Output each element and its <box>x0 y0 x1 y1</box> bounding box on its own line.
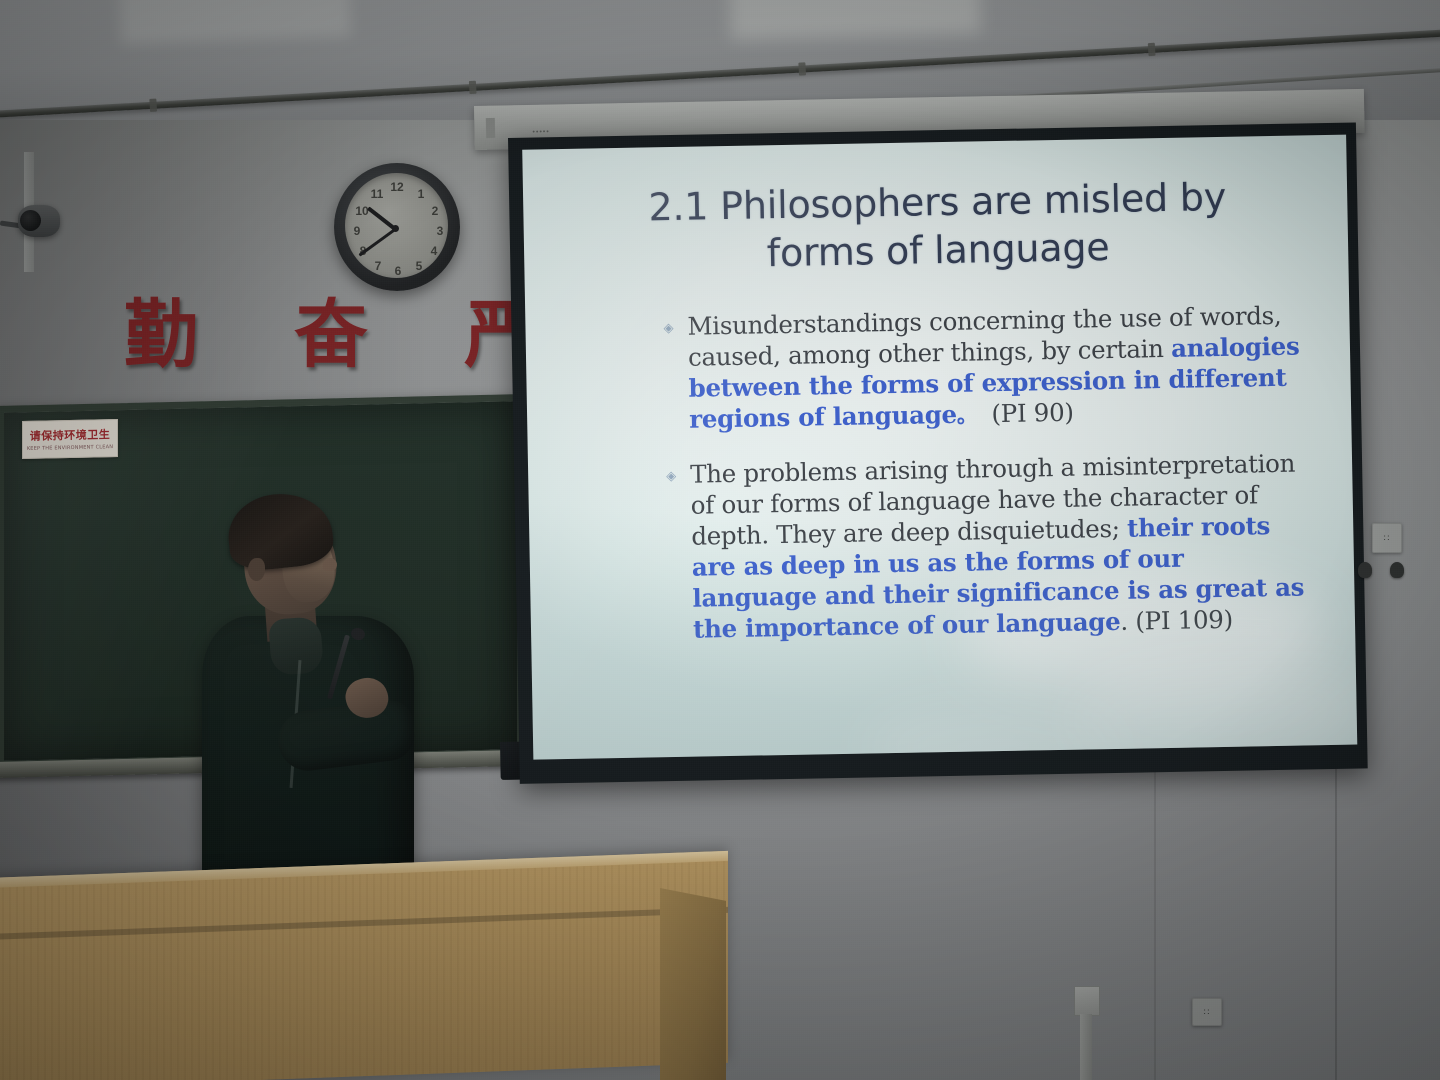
chalkboard-notice-sign: 请保持环境卫生 KEEP THE ENVIRONMENT CLEAN <box>22 419 118 459</box>
bullet-2-punctuation: . <box>1120 607 1128 636</box>
screen-surface: 2.1 Philosophers are misled by forms of … <box>522 135 1357 760</box>
slide-bullet-item: ◈ The problems arising through a misinte… <box>666 447 1317 645</box>
conduit-pipe <box>1080 1014 1092 1080</box>
diamond-bullet-icon: ◈ <box>666 459 693 645</box>
outlet-holes: ∷ <box>1373 524 1401 552</box>
clock-numeral: 5 <box>411 260 427 272</box>
bullet-1-reference: (PI 90) <box>991 398 1074 429</box>
screen-bracket <box>486 118 495 138</box>
clock-numeral: 6 <box>390 265 406 277</box>
clock-numeral: 11 <box>369 188 385 200</box>
clock-numeral: 9 <box>349 225 365 237</box>
presenter-collar <box>268 616 324 675</box>
pipe-clip <box>798 62 806 75</box>
pipe-clip <box>1148 43 1156 56</box>
presenter <box>196 492 446 904</box>
slide-bullet-item: ◈ Misunderstandings concerning the use o… <box>663 299 1313 437</box>
ceiling-light-glow-right <box>729 0 981 39</box>
slide-bullet-list: ◈ Misunderstandings concerning the use o… <box>567 299 1317 647</box>
slogan-char-1: 勤 <box>124 296 198 374</box>
clock-numeral: 12 <box>389 181 405 193</box>
clock-numeral: 7 <box>370 260 386 272</box>
slogan-char-2: 奋 <box>294 296 368 374</box>
clock-numeral: 4 <box>426 245 442 257</box>
bullet-2-reference: (PI 109) <box>1135 605 1233 636</box>
diamond-bullet-icon: ◈ <box>663 311 689 437</box>
lectern-side-panel <box>660 888 726 1080</box>
clock-numeral: 1 <box>413 188 429 200</box>
ceiling-light-glow-left <box>119 0 351 44</box>
pipe-clip <box>149 99 157 112</box>
pipe-clip <box>469 81 477 94</box>
wall-outlet-upper[interactable]: ∷ <box>1372 523 1402 553</box>
camera-lens-icon <box>20 210 41 231</box>
presentation-slide: 2.1 Philosophers are misled by forms of … <box>522 135 1357 760</box>
slide-title: 2.1 Philosophers are misled by forms of … <box>565 171 1311 281</box>
wall-clock: 12 1 2 3 4 5 6 7 8 9 10 11 <box>334 163 460 291</box>
outlet-holes: ∷ <box>1193 999 1221 1025</box>
lectern-wood-grain <box>0 851 728 1080</box>
bullet-1-punctuation: 。 <box>957 403 977 427</box>
sign-line-2: KEEP THE ENVIRONMENT CLEAN <box>27 444 113 452</box>
classroom-photo: 12 1 2 3 4 5 6 7 8 9 10 11 勤 奋 严 谨 请保持环境… <box>0 0 1440 1080</box>
lectern <box>0 851 728 1080</box>
bullet-text-2: The problems arising through a misinterp… <box>690 447 1317 644</box>
presenter-ear <box>248 558 265 581</box>
wall-hook <box>1390 562 1404 578</box>
sign-line-1: 请保持环境卫生 <box>30 426 111 444</box>
conduit-box <box>1074 986 1100 1016</box>
wall-hook <box>1358 562 1372 578</box>
clock-numeral: 3 <box>432 225 448 237</box>
wall-outlet-lower[interactable]: ∷ <box>1192 998 1222 1026</box>
bullet-text-1: Misunderstandings concerning the use of … <box>687 299 1313 436</box>
clock-numeral: 2 <box>427 205 443 217</box>
projection-screen: 2.1 Philosophers are misled by forms of … <box>508 122 1368 783</box>
clock-center-pin <box>392 225 399 232</box>
housing-label: ••••• <box>532 129 549 136</box>
